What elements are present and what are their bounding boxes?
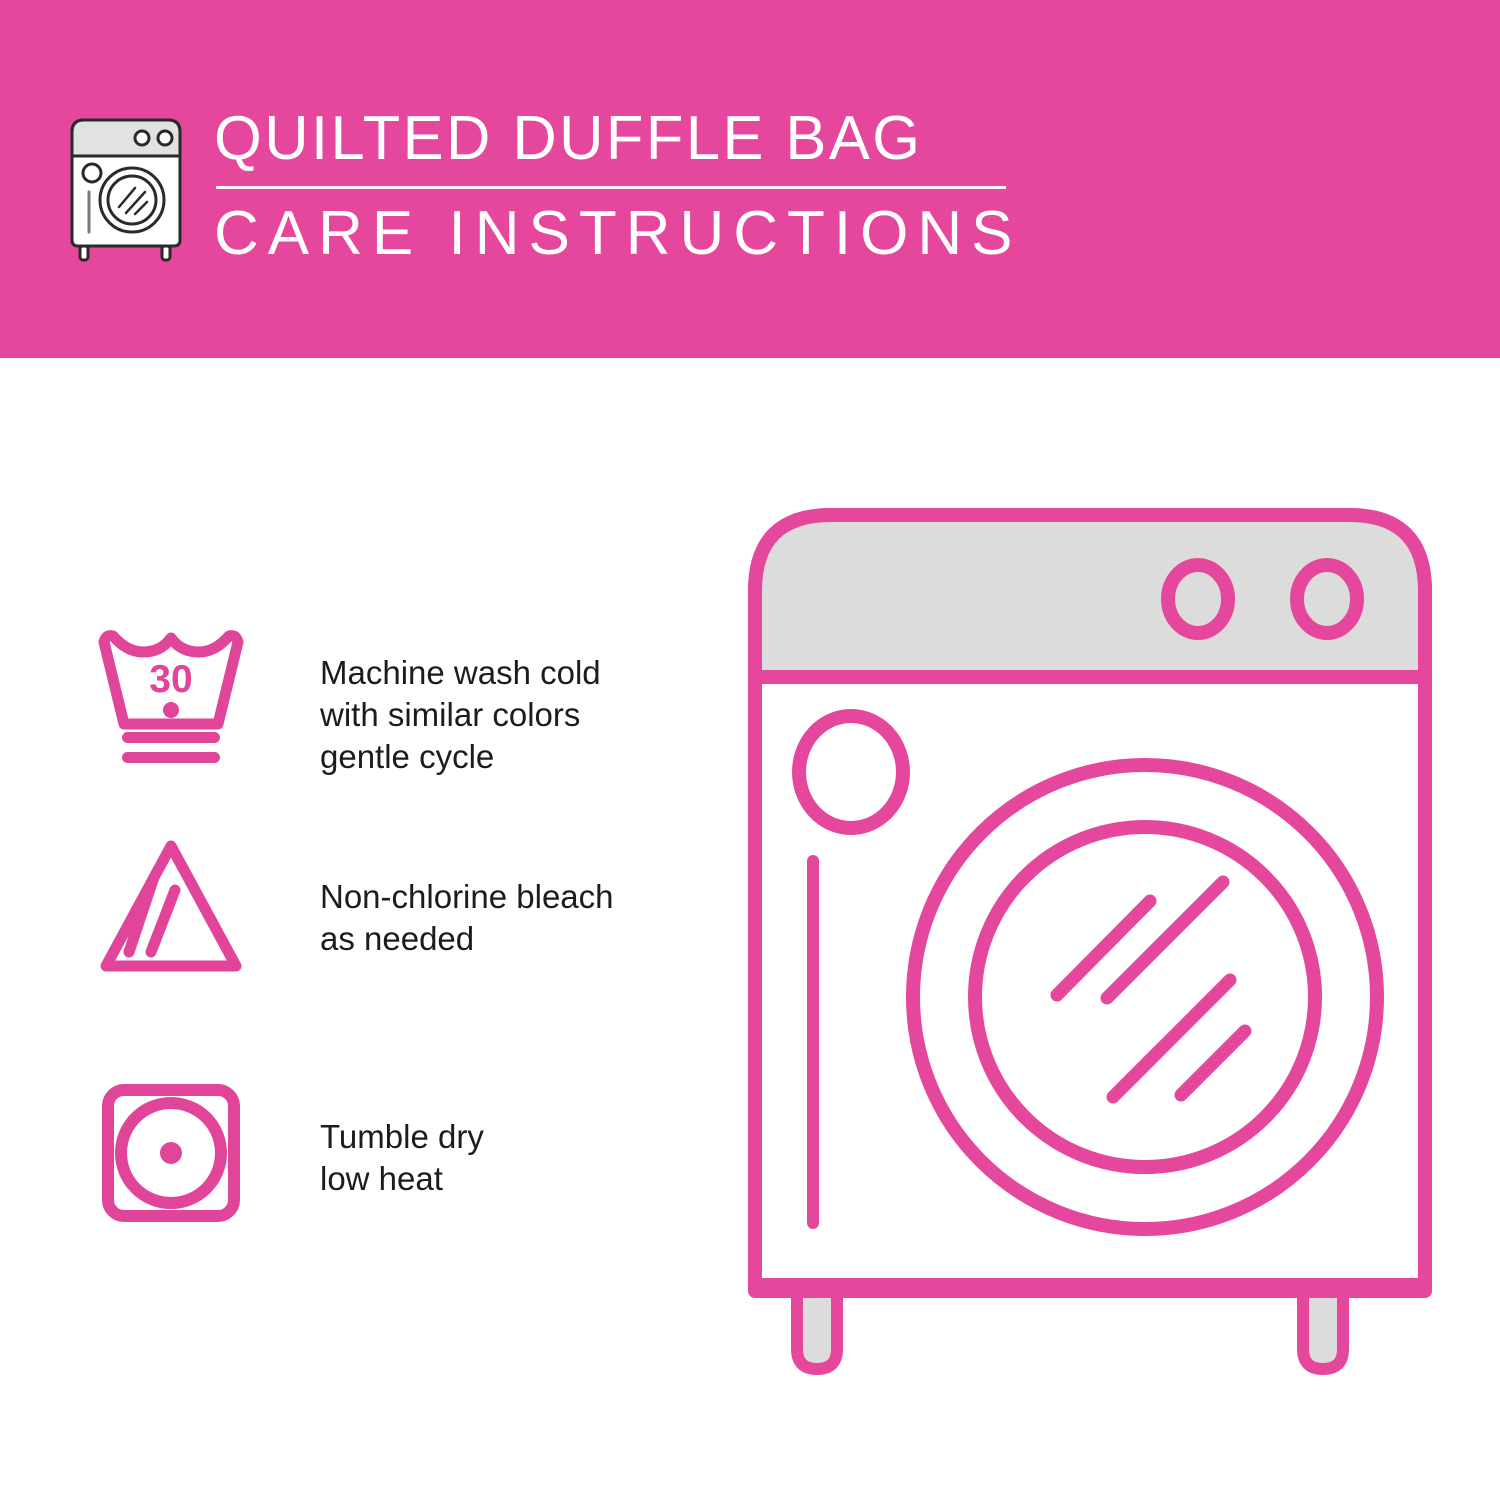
care-instruction-text: Non-chlorine bleach as needed xyxy=(320,876,614,960)
low-heat-dot xyxy=(160,1142,182,1164)
header-content: QUILTED DUFFLE BAG CARE INSTRUCTIONS xyxy=(62,104,1014,269)
non-chlorine-bleach-icon xyxy=(96,832,246,982)
detergent-port-icon xyxy=(799,716,903,828)
door-inner-ring xyxy=(975,827,1315,1167)
machine-wash-30-gentle-icon: 30 xyxy=(96,620,246,770)
care-instruction-text: Tumble dry low heat xyxy=(320,1116,484,1200)
control-knob-right[interactable] xyxy=(1297,565,1357,633)
care-instruction-row: 30 Machine wash cold with similar colors… xyxy=(96,620,601,778)
wash-temperature-label: 30 xyxy=(149,658,192,701)
front-load-washing-machine-illustration xyxy=(735,495,1445,1445)
title-divider xyxy=(216,186,1006,189)
header-band: QUILTED DUFFLE BAG CARE INSTRUCTIONS xyxy=(0,0,1500,358)
header-title-group: QUILTED DUFFLE BAG CARE INSTRUCTIONS xyxy=(214,104,1014,269)
page-subtitle: CARE INSTRUCTIONS xyxy=(214,199,1014,269)
tumble-dry-low-heat-icon xyxy=(96,1078,246,1228)
gentle-cycle-dot xyxy=(163,702,179,718)
page-title: QUILTED DUFFLE BAG xyxy=(214,104,1006,174)
care-instruction-text: Machine wash cold with similar colors ge… xyxy=(320,652,601,778)
care-instruction-row: Tumble dry low heat xyxy=(96,1078,484,1228)
care-instruction-row: Non-chlorine bleach as needed xyxy=(96,832,614,982)
washing-machine-icon xyxy=(62,110,190,262)
control-knob-left[interactable] xyxy=(1168,565,1228,633)
